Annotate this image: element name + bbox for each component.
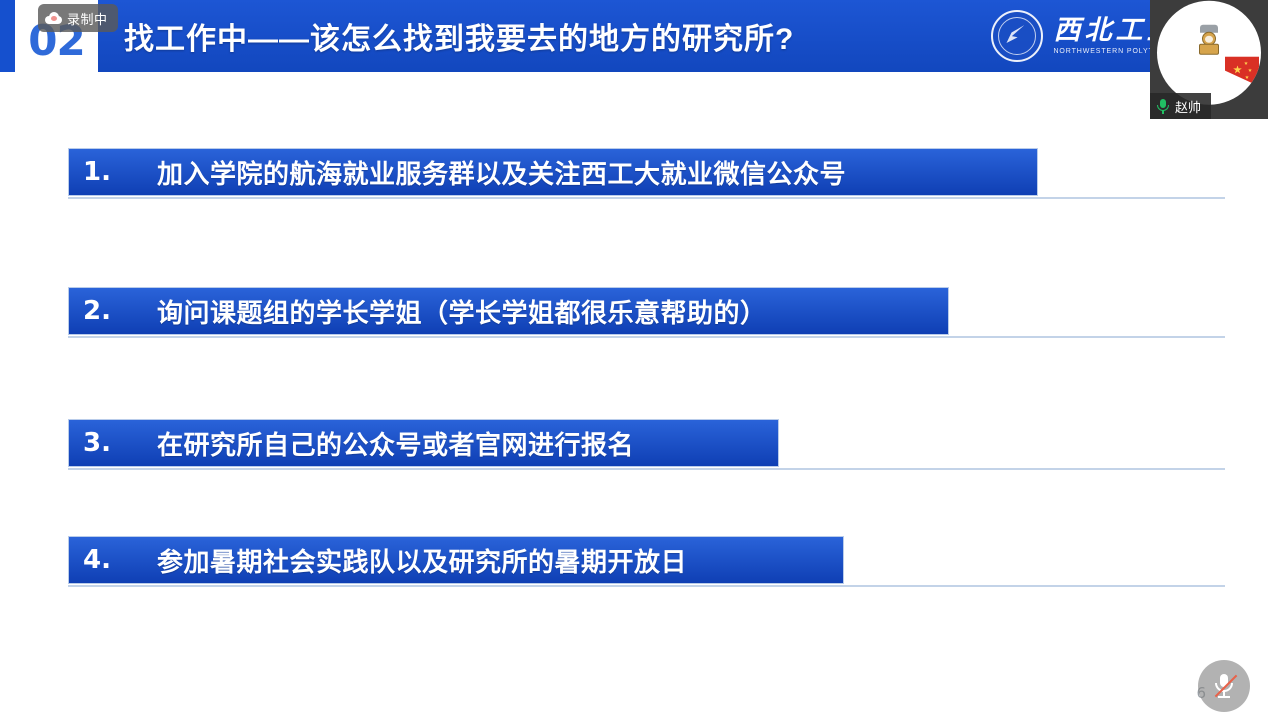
participant-name-plate: 赵帅 [1150, 93, 1211, 119]
page-title: 找工作中——该怎么找到我要去的地方的研究所? [124, 14, 794, 58]
list-item-block: 3. 在研究所自己的公众号或者官网进行报名 [68, 419, 779, 467]
china-flag-icon [1225, 56, 1259, 86]
recording-label: 录制中 [67, 9, 108, 28]
university-seal-icon [991, 10, 1043, 62]
list-item-underline [68, 468, 1225, 470]
avatar-figure-icon [1196, 25, 1222, 55]
mute-toggle-button[interactable] [1198, 660, 1250, 712]
list-item: 1. 加入学院的航海就业服务群以及关注西工大就业微信公众号 [68, 148, 1225, 196]
list-item-block: 1. 加入学院的航海就业服务群以及关注西工大就业微信公众号 [68, 148, 1038, 196]
avatar [1157, 0, 1261, 104]
list-item: 2. 询问课题组的学长学姐（学长学姐都很乐意帮助的） [68, 287, 1225, 335]
list-item-underline [68, 585, 1225, 587]
list-item-number: 3. [69, 428, 157, 458]
cloud-recording-icon [45, 12, 62, 24]
microphone-muted-icon [1213, 672, 1235, 700]
header-left-accent-strip [0, 0, 15, 72]
list-item-text: 在研究所自己的公众号或者官网进行报名 [157, 425, 652, 462]
list-item-text: 加入学院的航海就业服务群以及关注西工大就业微信公众号 [157, 154, 864, 191]
list-item-block: 4. 参加暑期社会实践队以及研究所的暑期开放日 [68, 536, 844, 584]
list-item-block: 2. 询问课题组的学长学姐（学长学姐都很乐意帮助的） [68, 287, 949, 335]
list-item-underline [68, 197, 1225, 199]
list-item-text: 询问课题组的学长学姐（学长学姐都很乐意帮助的） [157, 293, 785, 330]
recording-indicator: 录制中 [38, 4, 118, 32]
participant-name: 赵帅 [1175, 97, 1201, 116]
header-bar: 找工作中——该怎么找到我要去的地方的研究所? 西北工业大学 NORTHWESTE… [98, 0, 1268, 72]
participant-video-tile[interactable]: 赵帅 [1150, 0, 1268, 119]
list-item: 3. 在研究所自己的公众号或者官网进行报名 [68, 419, 1225, 467]
list-item: 4. 参加暑期社会实践队以及研究所的暑期开放日 [68, 536, 1225, 584]
presentation-slide: 02 找工作中——该怎么找到我要去的地方的研究所? 西北工业大学 NORTHWE… [0, 0, 1268, 724]
list-item-underline [68, 336, 1225, 338]
list-item-number: 4. [69, 545, 157, 575]
list-item-number: 1. [69, 157, 157, 187]
microphone-on-icon[interactable] [1156, 98, 1170, 114]
list-item-number: 2. [69, 296, 157, 326]
list-item-text: 参加暑期社会实践队以及研究所的暑期开放日 [157, 542, 705, 579]
